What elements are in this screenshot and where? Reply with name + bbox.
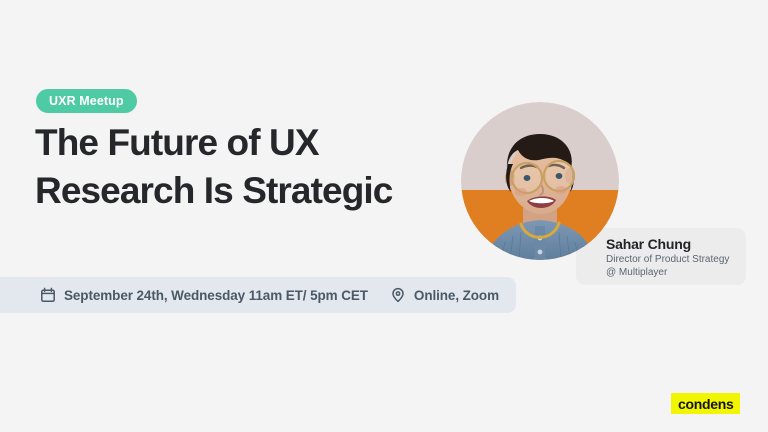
event-date-text: September 24th, Wednesday 11am ET/ 5pm C… bbox=[64, 288, 368, 303]
event-location-group: Online, Zoom bbox=[390, 287, 499, 303]
speaker-card: Sahar Chung Director of Product Strategy… bbox=[576, 228, 746, 285]
event-title-line-2: Research Is Strategic bbox=[35, 167, 465, 215]
speaker-company: @ Multiplayer bbox=[606, 266, 746, 279]
event-title-line-1: The Future of UX bbox=[35, 119, 465, 167]
event-info-bar: September 24th, Wednesday 11am ET/ 5pm C… bbox=[0, 277, 516, 313]
speaker-role: Director of Product Strategy bbox=[606, 253, 746, 266]
portrait-photo-illustration bbox=[461, 102, 619, 260]
speaker-avatar bbox=[461, 102, 619, 260]
category-badge: UXR Meetup bbox=[36, 89, 137, 113]
category-badge-label: UXR Meetup bbox=[49, 94, 124, 108]
event-title: The Future of UX Research Is Strategic bbox=[35, 119, 465, 215]
calendar-icon bbox=[40, 287, 56, 303]
speaker-name: Sahar Chung bbox=[606, 236, 746, 253]
event-date-group: September 24th, Wednesday 11am ET/ 5pm C… bbox=[40, 287, 368, 303]
map-pin-icon bbox=[390, 287, 406, 303]
condens-logo-text: condens bbox=[678, 396, 733, 412]
event-location-text: Online, Zoom bbox=[414, 288, 499, 303]
condens-logo: condens bbox=[671, 393, 740, 414]
event-banner: UXR Meetup The Future of UX Research Is … bbox=[0, 0, 768, 432]
